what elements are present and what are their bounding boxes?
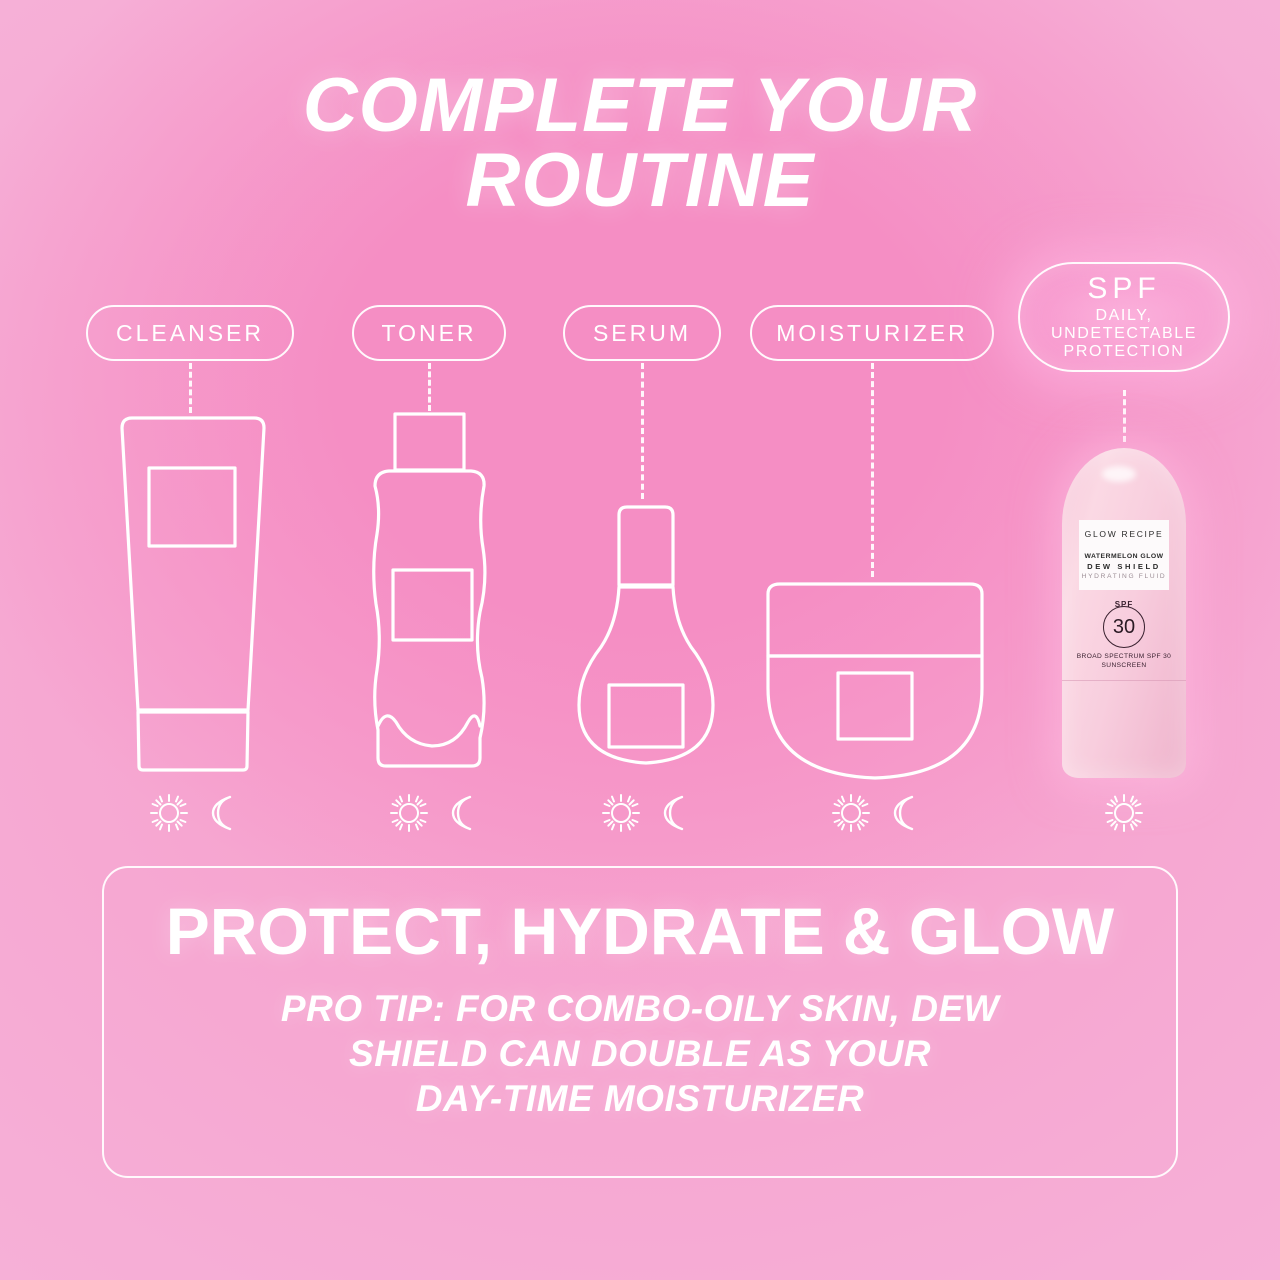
artwork-serum-dropper: [573, 497, 719, 779]
step-label-spf[interactable]: SPF DAILY, UNDETECTABLE PROTECTION: [1018, 262, 1230, 372]
step-label-text: SERUM: [593, 320, 691, 347]
connector-cleanser: [189, 363, 192, 413]
moon-icon: [657, 793, 691, 833]
product-brand: GLOW RECIPE: [1079, 529, 1169, 539]
sun-icon: [829, 791, 873, 835]
artwork-toner-bottle: [360, 408, 510, 778]
artwork-cleanser-tube: [108, 410, 278, 778]
step-label-toner[interactable]: TONER: [352, 305, 506, 361]
sun-icon: [147, 791, 191, 835]
connector-serum: [641, 363, 644, 499]
tip-body-line-1: PRO TIP: FOR COMBO-OILY SKIN, DEW: [164, 986, 1116, 1031]
product-footer-line-1: BROAD SPECTRUM SPF 30: [1062, 653, 1186, 660]
tip-body-line-3: DAY-TIME MOISTURIZER: [164, 1076, 1116, 1121]
usage-cleanser: [128, 790, 258, 836]
spf-subtitle-line-3: PROTECTION: [1064, 343, 1185, 360]
connector-spf: [1123, 390, 1126, 442]
step-label-cleanser[interactable]: CLEANSER: [86, 305, 294, 361]
spf-badge-word: SPF: [1062, 600, 1186, 609]
spf-subtitle-line-2: UNDETECTABLE: [1051, 325, 1197, 342]
spf-badge-value: 30: [1103, 606, 1145, 648]
product-name-line-1: WATERMELON GLOW: [1079, 553, 1169, 560]
moon-icon: [445, 793, 479, 833]
spf-title: SPF: [1087, 273, 1160, 305]
spf-30-badge: SPF 30: [1062, 600, 1186, 648]
spf-subtitle: DAILY, UNDETECTABLE PROTECTION: [1051, 307, 1197, 361]
product-bottle-dew-shield[interactable]: GLOW RECIPE WATERMELON GLOW DEW SHIELD H…: [1062, 448, 1186, 778]
tip-body: PRO TIP: FOR COMBO-OILY SKIN, DEW SHIELD…: [164, 986, 1116, 1121]
tip-headline: PROTECT, HYDRATE & GLOW: [104, 898, 1176, 964]
usage-toner: [368, 790, 498, 836]
step-label-text: MOISTURIZER: [776, 320, 967, 347]
sun-icon: [599, 791, 643, 835]
product-footer-line-2: SUNSCREEN: [1062, 662, 1186, 669]
step-label-text: TONER: [381, 320, 476, 347]
moon-icon: [205, 793, 239, 833]
bottle-highlight: [1102, 466, 1136, 482]
bottle-label: GLOW RECIPE WATERMELON GLOW DEW SHIELD H…: [1079, 520, 1169, 590]
step-label-text: CLEANSER: [116, 320, 264, 347]
sun-icon: [1102, 791, 1146, 835]
usage-serum: [580, 790, 710, 836]
usage-moisturizer: [810, 790, 940, 836]
artwork-moisturizer-jar: [760, 578, 990, 788]
bottle-seam: [1062, 680, 1186, 681]
infographic-canvas: COMPLETE YOUR ROUTINE CLEANSER: [0, 0, 1280, 1280]
product-name-line-3: HYDRATING FLUID: [1079, 573, 1169, 580]
spf-subtitle-line-1: DAILY,: [1095, 307, 1152, 324]
step-label-moisturizer[interactable]: MOISTURIZER: [750, 305, 994, 361]
tip-body-line-2: SHIELD CAN DOUBLE AS YOUR: [164, 1031, 1116, 1076]
moon-icon: [887, 793, 921, 833]
pro-tip-box: PROTECT, HYDRATE & GLOW PRO TIP: FOR COM…: [102, 866, 1178, 1178]
connector-moisturizer: [871, 363, 874, 577]
usage-spf: [1102, 790, 1146, 836]
sun-icon: [387, 791, 431, 835]
product-name-line-2: DEW SHIELD: [1079, 562, 1169, 571]
step-label-serum[interactable]: SERUM: [563, 305, 721, 361]
connector-toner: [428, 363, 431, 411]
